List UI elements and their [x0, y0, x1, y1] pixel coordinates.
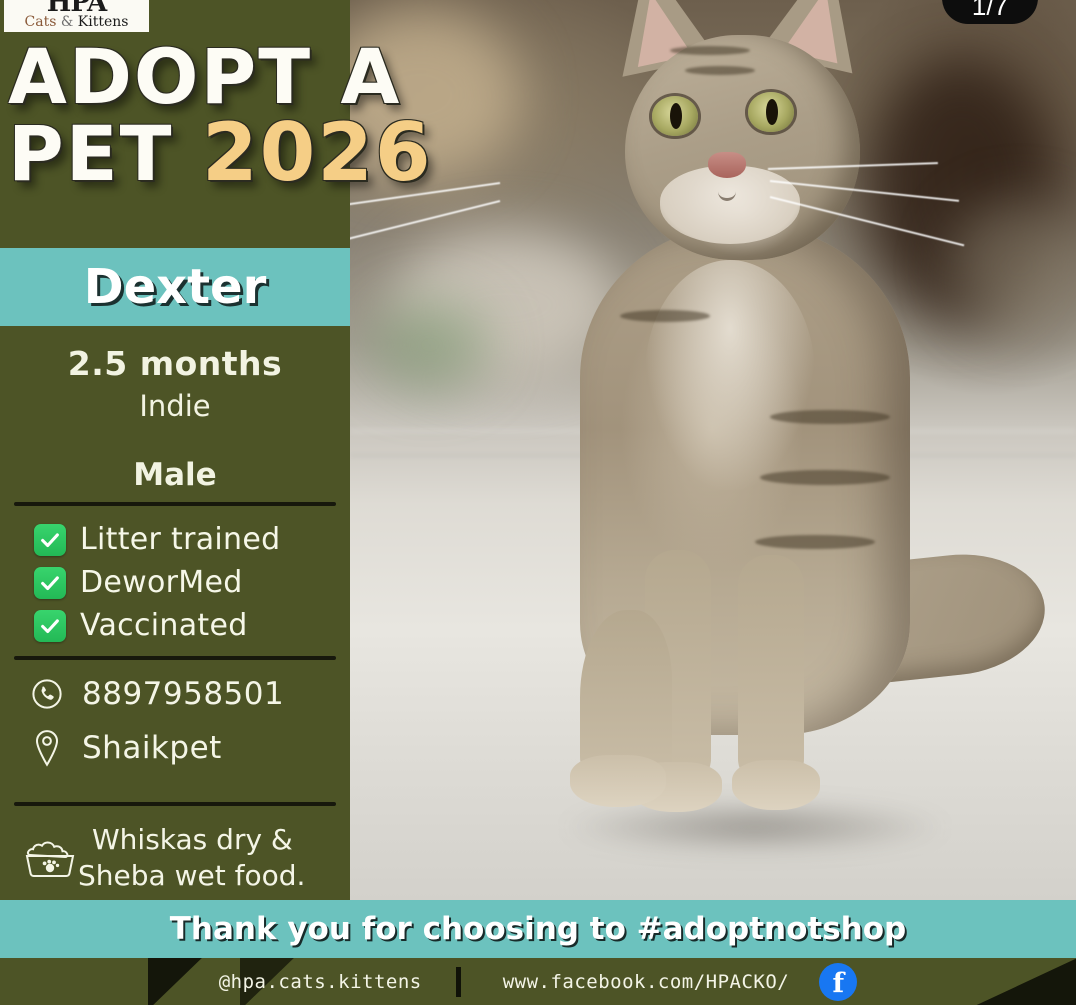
cat-illustration: [470, 10, 990, 900]
title-pet-word: PET: [8, 109, 173, 198]
cat-front-leg-right: [738, 555, 804, 785]
pet-name: Dexter: [84, 259, 267, 315]
checkmark-icon: [34, 567, 66, 599]
facebook-url[interactable]: www.facebook.com/HPACKO/: [503, 971, 790, 993]
page-counter-text: 1/7: [972, 0, 1008, 22]
pet-age: 2.5 months: [0, 344, 350, 383]
footer-separator: [456, 967, 461, 997]
cat-nose: [708, 152, 746, 178]
cat-stripe: [755, 535, 875, 549]
food-line-1: Whiskas dry &: [92, 823, 293, 856]
food-bowl-icon: [22, 838, 78, 886]
cat-pupil-right: [766, 99, 778, 125]
instagram-handle[interactable]: @hpa.cats.kittens: [219, 971, 422, 993]
pet-meta: 2.5 months Indie Male: [0, 344, 350, 493]
poster-title: ADOPT A PET 2026: [8, 36, 528, 195]
adoption-poster: ADOPT A PET 2026 HPA Cats & Kittens Dext…: [0, 0, 1076, 1005]
location-row[interactable]: Shaikpet: [30, 728, 340, 768]
checklist-item: Vaccinated: [34, 608, 334, 643]
footer-bar: @hpa.cats.kittens www.facebook.com/HPACK…: [0, 958, 1076, 1005]
phone-number: 8897958501: [82, 676, 284, 712]
checklist-label: Litter trained: [80, 522, 280, 557]
footer-content: @hpa.cats.kittens www.facebook.com/HPACK…: [0, 958, 1076, 1005]
divider-middle: [14, 656, 336, 660]
cat-stripe: [770, 410, 890, 424]
brand-logo-tagline: Cats & Kittens: [25, 14, 129, 30]
brand-kittens: Kittens: [78, 14, 129, 30]
cat-stripe: [760, 470, 890, 485]
cat-paw: [732, 760, 820, 810]
health-checklist: Litter trained DeworMed Vaccinated: [34, 522, 334, 651]
location-name: Shaikpet: [82, 730, 222, 766]
brand-logo-name: HPA: [47, 0, 106, 14]
contact-details: 8897958501 Shaikpet: [30, 674, 340, 782]
cat-stripe: [620, 310, 710, 322]
facebook-icon[interactable]: f: [819, 963, 857, 1001]
brand-logo: HPA Cats & Kittens: [4, 0, 149, 32]
cat-mouth: [718, 182, 736, 201]
divider-top: [14, 502, 336, 506]
divider-bottom: [14, 802, 336, 806]
food-text: Whiskas dry & Sheba wet food.: [92, 822, 305, 894]
cat-chest: [645, 260, 815, 490]
phone-row[interactable]: 8897958501: [30, 674, 340, 714]
thank-you-text: Thank you for choosing to #adoptnotshop: [170, 911, 907, 947]
pet-sex: Male: [0, 457, 350, 493]
location-pin-icon: [30, 728, 64, 768]
pet-name-band: Dexter: [0, 248, 350, 326]
checklist-item: DeworMed: [34, 565, 334, 600]
cat-forehead-stripe: [685, 66, 755, 75]
cat-pupil-left: [670, 103, 682, 129]
phone-icon: [30, 674, 64, 714]
checklist-item: Litter trained: [34, 522, 334, 557]
facebook-glyph: f: [832, 968, 844, 1000]
food-line-2: Sheba wet food.: [78, 858, 305, 894]
thank-you-band: Thank you for choosing to #adoptnotshop: [0, 900, 1076, 958]
checklist-label: Vaccinated: [80, 608, 248, 643]
checklist-label: DeworMed: [80, 565, 243, 600]
title-year: 2026: [202, 106, 433, 199]
pet-breed: Indie: [0, 389, 350, 423]
brand-cats: Cats: [25, 14, 57, 30]
title-line-2: PET 2026: [8, 112, 528, 195]
brand-ampersand: &: [61, 14, 73, 30]
cat-paw: [570, 755, 666, 807]
checkmark-icon: [34, 524, 66, 556]
pet-info-panel: 2.5 months Indie Male Litter trained Dew…: [0, 326, 350, 900]
cat-forehead-stripe: [670, 46, 750, 55]
food-preference: Whiskas dry & Sheba wet food.: [22, 822, 348, 894]
page-counter-pill: 1/7: [942, 0, 1038, 24]
cat-shadow: [560, 800, 950, 854]
checkmark-icon: [34, 610, 66, 642]
